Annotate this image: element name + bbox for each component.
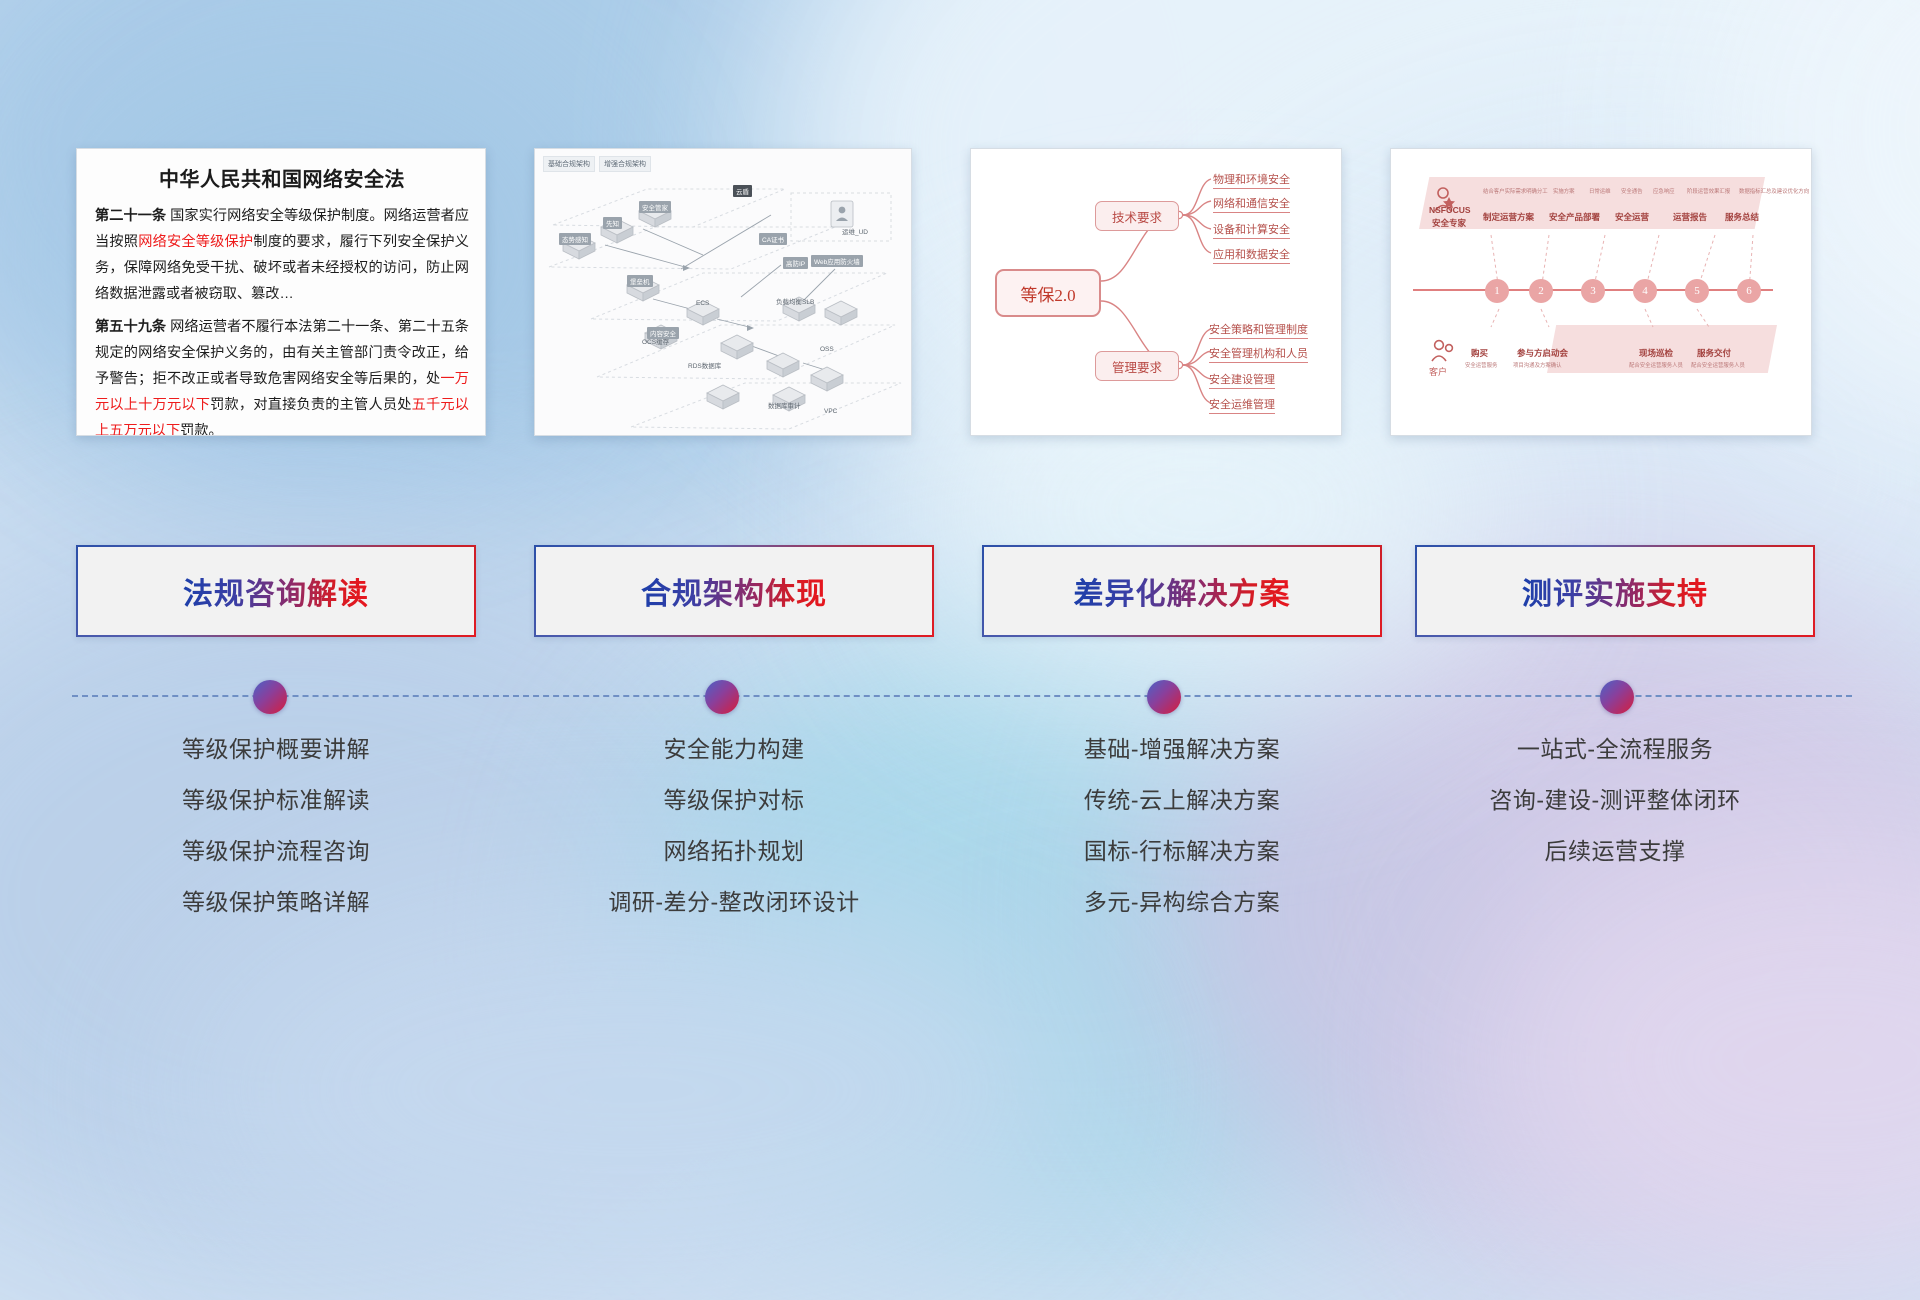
law-title: 中华人民共和国网络安全法 <box>95 163 469 192</box>
mindmap-branch-technical[interactable]: 技术要求 <box>1095 201 1179 231</box>
mindmap-branch-management[interactable]: 管理要求 <box>1095 351 1179 381</box>
article-59-text-2: 罚款，对直接负责的主管人员处 <box>210 397 411 413</box>
timeline-connector <box>0 680 1920 720</box>
nsfocus-step-3[interactable]: 3 <box>1581 279 1605 303</box>
card-dengbao-mindmap[interactable]: 等保2.0 技术要求 管理要求 物理和环境安全 网络和通信安全 设备和计算安全 … <box>970 148 1342 436</box>
nsfocus-sub-6: 阶段运营效果汇报 <box>1687 187 1730 195</box>
list-item[interactable]: 后续运营支撑 <box>1415 840 1815 863</box>
arch-label-database-audit: 数据库审计 <box>765 399 804 411</box>
arch-label-ca-certificate: CA证书 <box>759 233 787 245</box>
architecture-svg <box>535 149 912 436</box>
mindmap-leaf-device-compute[interactable]: 设备和计算安全 <box>1213 221 1290 239</box>
card-compliance-architecture[interactable]: 基础合规架构 增强合规架构 <box>534 148 912 436</box>
arch-label-situation-awareness: 态势感知 <box>559 233 591 245</box>
nsfocus-caption-plan: 制定运营方案 <box>1483 211 1534 223</box>
list-item[interactable]: 网络拓扑规划 <box>534 840 934 863</box>
mindmap-leaf-physical-env[interactable]: 物理和环境安全 <box>1213 171 1290 189</box>
arch-label-xianzhi: 先知 <box>603 217 622 229</box>
headline-box-evaluation-support[interactable]: 测评实施支持 <box>1415 545 1815 637</box>
nsfocus-customer-label: 客户 <box>1429 365 1447 378</box>
arch-label-bastion-host: 堡垒机 <box>627 275 653 287</box>
arch-label-content-security: 内容安全 <box>647 327 679 339</box>
timeline-dot-3[interactable] <box>1147 680 1181 714</box>
nsfocus-bottom-sub-3: 配合安全运营服务人员 <box>1629 361 1683 369</box>
mindmap-leaf-construction-mgmt[interactable]: 安全建设管理 <box>1209 371 1275 389</box>
timeline-dot-2[interactable] <box>705 680 739 714</box>
card-nsfocus-service-timeline[interactable]: 1 2 3 4 5 6 NSFOCUS 安全专家 制定运营方案 安全产品部署 安… <box>1390 148 1812 436</box>
nsfocus-caption-summary: 服务总结 <box>1725 211 1759 223</box>
list-item[interactable]: 等级保护流程咨询 <box>76 840 476 863</box>
nsfocus-sub-5: 应急响应 <box>1653 187 1675 195</box>
arch-label-security-butler: 安全管家 <box>639 201 671 213</box>
list-item[interactable]: 咨询-建设-测评整体闭环 <box>1415 789 1815 812</box>
nsfocus-bottom-sub-1: 安全运营服务 <box>1465 361 1497 369</box>
timeline-dot-1[interactable] <box>253 680 287 714</box>
list-item[interactable]: 等级保护概要讲解 <box>76 738 476 761</box>
list-item[interactable]: 安全能力构建 <box>534 738 934 761</box>
timeline-dashed-line <box>72 695 1852 697</box>
timeline-dot-4[interactable] <box>1600 680 1634 714</box>
architecture-diagram: 基础合规架构 增强合规架构 <box>535 149 911 435</box>
nsfocus-brand: NSFOCUS <box>1429 205 1471 215</box>
arch-label-slb: 负载均衡SLB <box>773 295 817 307</box>
list-item[interactable]: 一站式-全流程服务 <box>1415 738 1815 761</box>
service-column-evaluation: 一站式-全流程服务 咨询-建设-测评整体闭环 后续运营支撑 <box>1415 738 1815 891</box>
list-item[interactable]: 调研-差分-整改闭环设计 <box>534 891 934 914</box>
article-21-label: 第二十一条 <box>95 208 166 224</box>
nsfocus-sub-2: 实施方案 <box>1553 187 1575 195</box>
nsfocus-bottom-caption-purchase: 购买 <box>1471 347 1488 359</box>
mindmap-leaf-policy-system[interactable]: 安全策略和管理制度 <box>1209 321 1308 339</box>
headline-label: 差异化解决方案 <box>1074 569 1291 613</box>
mindmap-root-node[interactable]: 等保2.0 <box>995 269 1101 317</box>
list-item[interactable]: 等级保护标准解读 <box>76 789 476 812</box>
nsfocus-step-6[interactable]: 6 <box>1737 279 1761 303</box>
service-column-solution: 基础-增强解决方案 传统-云上解决方案 国标-行标解决方案 多元-异构综合方案 <box>982 738 1382 942</box>
law-article-59: 第五十九条 网络运营者不履行本法第二十一条、第二十五条规定的网络安全保护义务的，… <box>95 315 469 436</box>
arch-label-anti-ddos-ip: 高防IP <box>783 257 808 269</box>
article-59-text-3: 罚款。 <box>180 423 223 436</box>
nsfocus-caption-report: 运营报告 <box>1673 211 1707 223</box>
tab-enhanced-architecture[interactable]: 增强合规架构 <box>599 156 651 172</box>
arch-label-oss: OSS <box>817 345 837 354</box>
mindmap-leaf-app-data[interactable]: 应用和数据安全 <box>1213 246 1290 264</box>
nsfocus-brand-sub: 安全专家 <box>1432 217 1466 229</box>
nsfocus-step-4[interactable]: 4 <box>1633 279 1657 303</box>
arch-label-ecs: ECS <box>693 299 712 308</box>
nsfocus-sub-7: 数据指标汇总及建议优化方向 <box>1739 187 1809 195</box>
nsfocus-step-2[interactable]: 2 <box>1529 279 1553 303</box>
nsfocus-sub-1: 结合客户实际需求明确分工 <box>1483 187 1548 195</box>
mindmap-leaf-org-personnel[interactable]: 安全管理机构和人员 <box>1209 345 1308 363</box>
nsfocus-step-5[interactable]: 5 <box>1685 279 1709 303</box>
mindmap-leaf-ops-mgmt[interactable]: 安全运维管理 <box>1209 396 1275 414</box>
card-cybersecurity-law[interactable]: 中华人民共和国网络安全法 第二十一条 国家实行网络安全等级保护制度。网络运营者应… <box>76 148 486 436</box>
arch-label-rds-database: RDS数据库 <box>685 359 724 371</box>
headline-label: 法规咨询解读 <box>183 569 369 613</box>
nsfocus-sub-3: 日常运维 <box>1589 187 1611 195</box>
article-59-label: 第五十九条 <box>95 319 166 335</box>
arch-label-waf: Web应用防火墙 <box>811 255 863 267</box>
headline-label: 测评实施支持 <box>1522 569 1708 613</box>
nsfocus-caption-deploy: 安全产品部署 <box>1549 211 1600 223</box>
list-item[interactable]: 等级保护对标 <box>534 789 934 812</box>
service-column-architecture: 安全能力构建 等级保护对标 网络拓扑规划 调研-差分-整改闭环设计 <box>534 738 934 942</box>
article-21-highlight: 网络安全等级保护 <box>138 234 253 250</box>
headline-row: 法规咨询解读 合规架构体现 差异化解决方案 测评实施支持 <box>0 545 1920 640</box>
nsfocus-sub-4: 安全通告 <box>1621 187 1643 195</box>
list-item[interactable]: 多元-异构综合方案 <box>982 891 1382 914</box>
preview-cards-row: 中华人民共和国网络安全法 第二十一条 国家实行网络安全等级保护制度。网络运营者应… <box>0 148 1920 436</box>
headline-box-differentiated-solution[interactable]: 差异化解决方案 <box>982 545 1382 637</box>
nsfocus-caption-operate: 安全运营 <box>1615 211 1649 223</box>
headline-box-regulation-consulting[interactable]: 法规咨询解读 <box>76 545 476 637</box>
law-article-21: 第二十一条 国家实行网络安全等级保护制度。网络运营者应当按照网络安全等级保护制度… <box>95 204 469 307</box>
mindmap-leaf-network-comm[interactable]: 网络和通信安全 <box>1213 195 1290 213</box>
nsfocus-bottom-caption-delivery: 服务交付 <box>1697 347 1731 359</box>
service-column-regulation: 等级保护概要讲解 等级保护标准解读 等级保护流程咨询 等级保护策略详解 <box>76 738 476 942</box>
list-item[interactable]: 国标-行标解决方案 <box>982 840 1382 863</box>
architecture-tabs: 基础合规架构 增强合规架构 <box>543 156 651 172</box>
list-item[interactable]: 等级保护策略详解 <box>76 891 476 914</box>
headline-label: 合规架构体现 <box>641 569 827 613</box>
arch-label-vpc: VPC <box>821 407 840 416</box>
arch-label-cloudshield: 云盾 <box>733 185 752 197</box>
list-item[interactable]: 基础-增强解决方案 <box>982 738 1382 761</box>
tab-basic-architecture[interactable]: 基础合规架构 <box>543 156 595 172</box>
list-item[interactable]: 传统-云上解决方案 <box>982 789 1382 812</box>
nsfocus-bottom-sub-2: 项目沟通及方案确认 <box>1513 361 1562 369</box>
arch-label-ops-ud: 运维_UD <box>839 225 871 237</box>
nsfocus-bottom-caption-kickoff: 参与方启动会 <box>1517 347 1568 359</box>
nsfocus-step-1[interactable]: 1 <box>1485 279 1509 303</box>
nsfocus-bottom-caption-inspection: 现场巡检 <box>1639 347 1673 359</box>
mindmap: 等保2.0 技术要求 管理要求 物理和环境安全 网络和通信安全 设备和计算安全 … <box>971 149 1341 435</box>
nsfocus-bottom-sub-4: 配合安全运营服务人员 <box>1691 361 1745 369</box>
nsfocus-timeline: 1 2 3 4 5 6 NSFOCUS 安全专家 制定运营方案 安全产品部署 安… <box>1391 149 1811 435</box>
headline-box-compliance-architecture[interactable]: 合规架构体现 <box>534 545 934 637</box>
